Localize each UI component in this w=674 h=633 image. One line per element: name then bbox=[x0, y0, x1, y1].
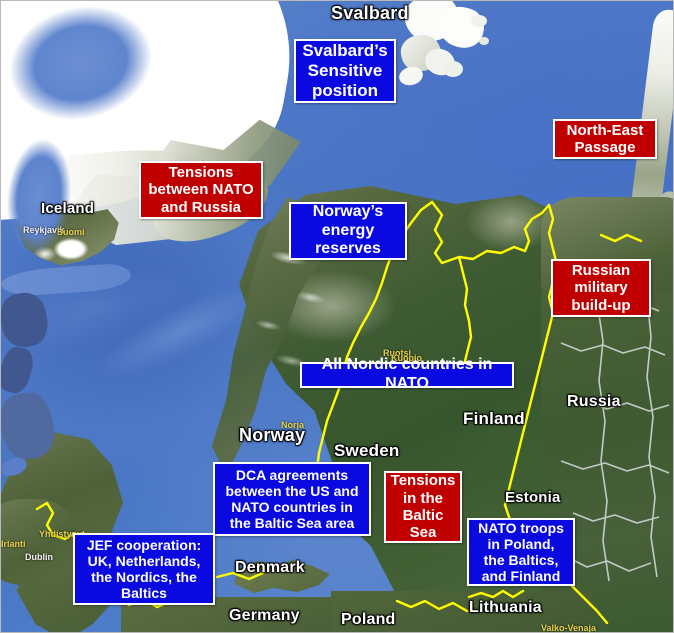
country-label-sweden: Sweden bbox=[334, 441, 399, 461]
minor-label-suomi: Suomi bbox=[57, 227, 85, 237]
callout-tensions-between-nato-and-russia[interactable]: Tensions between NATO and Russia bbox=[139, 161, 263, 219]
minor-label-valko-venaja: Valko-Venaja bbox=[541, 623, 596, 633]
callout-north-east-passage[interactable]: North-East Passage bbox=[553, 119, 657, 159]
country-label-iceland: Iceland bbox=[41, 200, 94, 217]
svalbard-islet-c bbox=[471, 15, 487, 27]
callout-norways-energy-reserves[interactable]: Norway’s energy reserves bbox=[289, 202, 407, 260]
callout-dca-agreements[interactable]: DCA agreements between the US and NATO c… bbox=[213, 462, 371, 536]
country-label-poland: Poland bbox=[341, 611, 396, 629]
map-container[interactable]: Ruotsi Norja Reykjavik Suomi Irlanti Yhd… bbox=[0, 0, 674, 633]
minor-label-irlanti: Irlanti bbox=[1, 539, 26, 549]
callout-all-nordic-countries-in-nato[interactable]: All Nordic countries in NATO bbox=[300, 362, 514, 388]
callout-nato-troops[interactable]: NATO troops in Poland, the Baltics, and … bbox=[467, 518, 575, 586]
svalbard-islet-d bbox=[479, 37, 489, 45]
callout-jef-cooperation[interactable]: JEF cooperation: UK, Netherlands, the No… bbox=[73, 533, 215, 605]
callout-russian-military-build-up[interactable]: Russian military build-up bbox=[551, 259, 651, 317]
minor-label-dublin: Dublin bbox=[25, 552, 53, 562]
country-label-denmark: Denmark bbox=[235, 559, 305, 577]
country-label-svalbard: Svalbard bbox=[331, 3, 409, 24]
country-label-russia: Russia bbox=[567, 393, 621, 411]
country-label-germany: Germany bbox=[229, 607, 300, 625]
country-label-finland: Finland bbox=[463, 409, 525, 429]
svalbard-islet-a bbox=[443, 61, 463, 77]
callout-svalbard-sensitive-position[interactable]: Svalbard’s Sensitive position bbox=[294, 39, 396, 103]
country-label-estonia: Estonia bbox=[505, 489, 561, 506]
country-label-norway: Norway bbox=[239, 425, 305, 446]
callout-tensions-in-the-baltic-sea[interactable]: Tensions in the Baltic Sea bbox=[384, 471, 462, 543]
country-label-lithuania: Lithuania bbox=[469, 599, 542, 617]
